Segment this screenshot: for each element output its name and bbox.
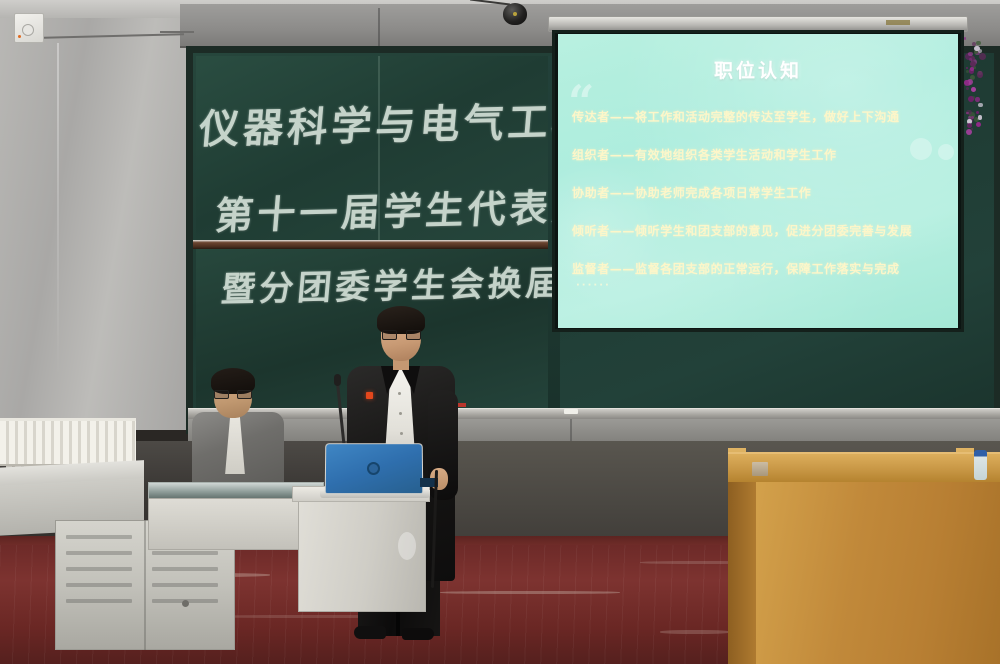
- slide-title: 职位认知: [558, 56, 958, 83]
- microphone-head-icon[interactable]: [334, 374, 341, 386]
- cabinet-vent: [152, 583, 218, 587]
- slide-body: 传达者——将工作和活动完整的传达至学生，做好上下沟通 组织者——有效地组织各类学…: [572, 108, 956, 298]
- glasses-lens: [214, 390, 229, 399]
- decorative-tinsel-garland: [963, 36, 981, 132]
- cabinet-vent: [152, 567, 218, 571]
- slide-line-5: 监督者——监督各团支部的正常运行，保障工作落实与完成: [572, 260, 956, 277]
- tinsel-fleck: [968, 52, 973, 57]
- cabinet-vent: [66, 535, 132, 539]
- slide-line-1: 传达者——将工作和活动完整的传达至学生，做好上下沟通: [572, 108, 956, 125]
- thermostat-led: [18, 35, 21, 38]
- slide-bubble-decoration: [938, 144, 954, 160]
- ceiling-beam-seam: [378, 8, 380, 46]
- seated-man-glasses-icon: [214, 390, 252, 399]
- projection-screen: 职位认知 “ 传达者——将工作和活动完整的传达至学生，做好上下沟通 组织者——有…: [558, 34, 958, 328]
- slide-line-2: 组织者——有效地组织各类学生活动和学生工作: [572, 146, 956, 163]
- tinsel-fleck: [976, 111, 979, 114]
- podium-emblem: [398, 532, 416, 560]
- tinsel-fleck: [979, 53, 986, 60]
- camera-lens-highlight: [513, 12, 517, 16]
- cabinet-vent: [66, 583, 132, 587]
- tinsel-fleck: [971, 87, 976, 92]
- slide-line-3: 协助者——协助老师完成各项日常学生工作: [572, 184, 956, 201]
- chalk-tray-body: [188, 419, 1000, 441]
- tinsel-fleck: [966, 87, 970, 91]
- thermostat-dial[interactable]: [22, 24, 34, 36]
- shirt-button: [400, 432, 403, 435]
- tinsel-fleck: [966, 67, 968, 69]
- cabinet-vent: [66, 599, 132, 603]
- tinsel-fleck: [977, 71, 983, 77]
- cabinet-vent: [66, 551, 132, 555]
- tinsel-fleck: [964, 80, 969, 85]
- wall-cable-segment: [160, 31, 194, 33]
- cabinet-door-split: [144, 520, 146, 650]
- tinsel-fleck: [968, 96, 974, 102]
- tinsel-fleck: [966, 110, 971, 115]
- speaker-shoe: [354, 626, 386, 639]
- glasses-lens: [237, 390, 252, 399]
- wall-control-box-icon[interactable]: [14, 13, 44, 43]
- dell-logo-icon: [367, 462, 380, 475]
- lecture-hall-photo: 仪器科学与电气工程学院 第十一届学生代表大会 暨分团委学生会换届大会 职位认知 …: [0, 0, 1000, 664]
- tinsel-fleck: [970, 61, 976, 67]
- speaker-glasses-icon: [382, 330, 421, 340]
- speaker-shoe: [402, 628, 434, 640]
- lectern-side-panel: [728, 480, 758, 664]
- wooden-lectern-body: [756, 480, 1000, 664]
- paper-cup[interactable]: [752, 462, 768, 476]
- tinsel-fleck: [966, 70, 969, 73]
- glasses-lens: [406, 330, 421, 340]
- floor-scuff: [660, 630, 730, 634]
- ceiling-dome-camera-icon: [503, 3, 527, 25]
- floor-scuff: [440, 591, 620, 594]
- tinsel-fleck: [978, 103, 982, 107]
- blackboard-mid-rail: [193, 240, 553, 249]
- glasses-lens: [382, 330, 397, 340]
- chalk-piece[interactable]: [564, 409, 578, 414]
- slide-line-4: 倾听者——倾听学生和团支部的意见，促进分团委完善与发展: [572, 222, 956, 239]
- wooden-lectern-top-rim: [728, 452, 1000, 482]
- shirt-button: [399, 412, 402, 415]
- wall-radiator: [0, 418, 136, 466]
- shirt-button: [398, 392, 401, 395]
- cabinet-vent: [152, 551, 218, 555]
- tinsel-fleck: [970, 67, 974, 71]
- tinsel-fleck: [967, 123, 972, 128]
- water-bottle[interactable]: [974, 450, 987, 480]
- tinsel-fleck: [971, 128, 973, 130]
- tinsel-fleck: [976, 122, 981, 127]
- tinsel-fleck: [976, 41, 981, 46]
- tinsel-fleck: [964, 37, 967, 40]
- speaker-lapel-badge: [366, 392, 373, 399]
- tinsel-fleck: [975, 97, 980, 102]
- left-wall: [0, 0, 190, 430]
- tinsel-fleck: [978, 115, 982, 119]
- cabinet-knob[interactable]: [182, 600, 189, 607]
- slide-ellipsis: ······: [576, 280, 611, 291]
- cabinet-vent: [66, 567, 132, 571]
- screen-housing-label: [886, 20, 910, 25]
- chalk-tray-seam: [570, 419, 572, 441]
- slide-bubble-decoration: [910, 138, 932, 160]
